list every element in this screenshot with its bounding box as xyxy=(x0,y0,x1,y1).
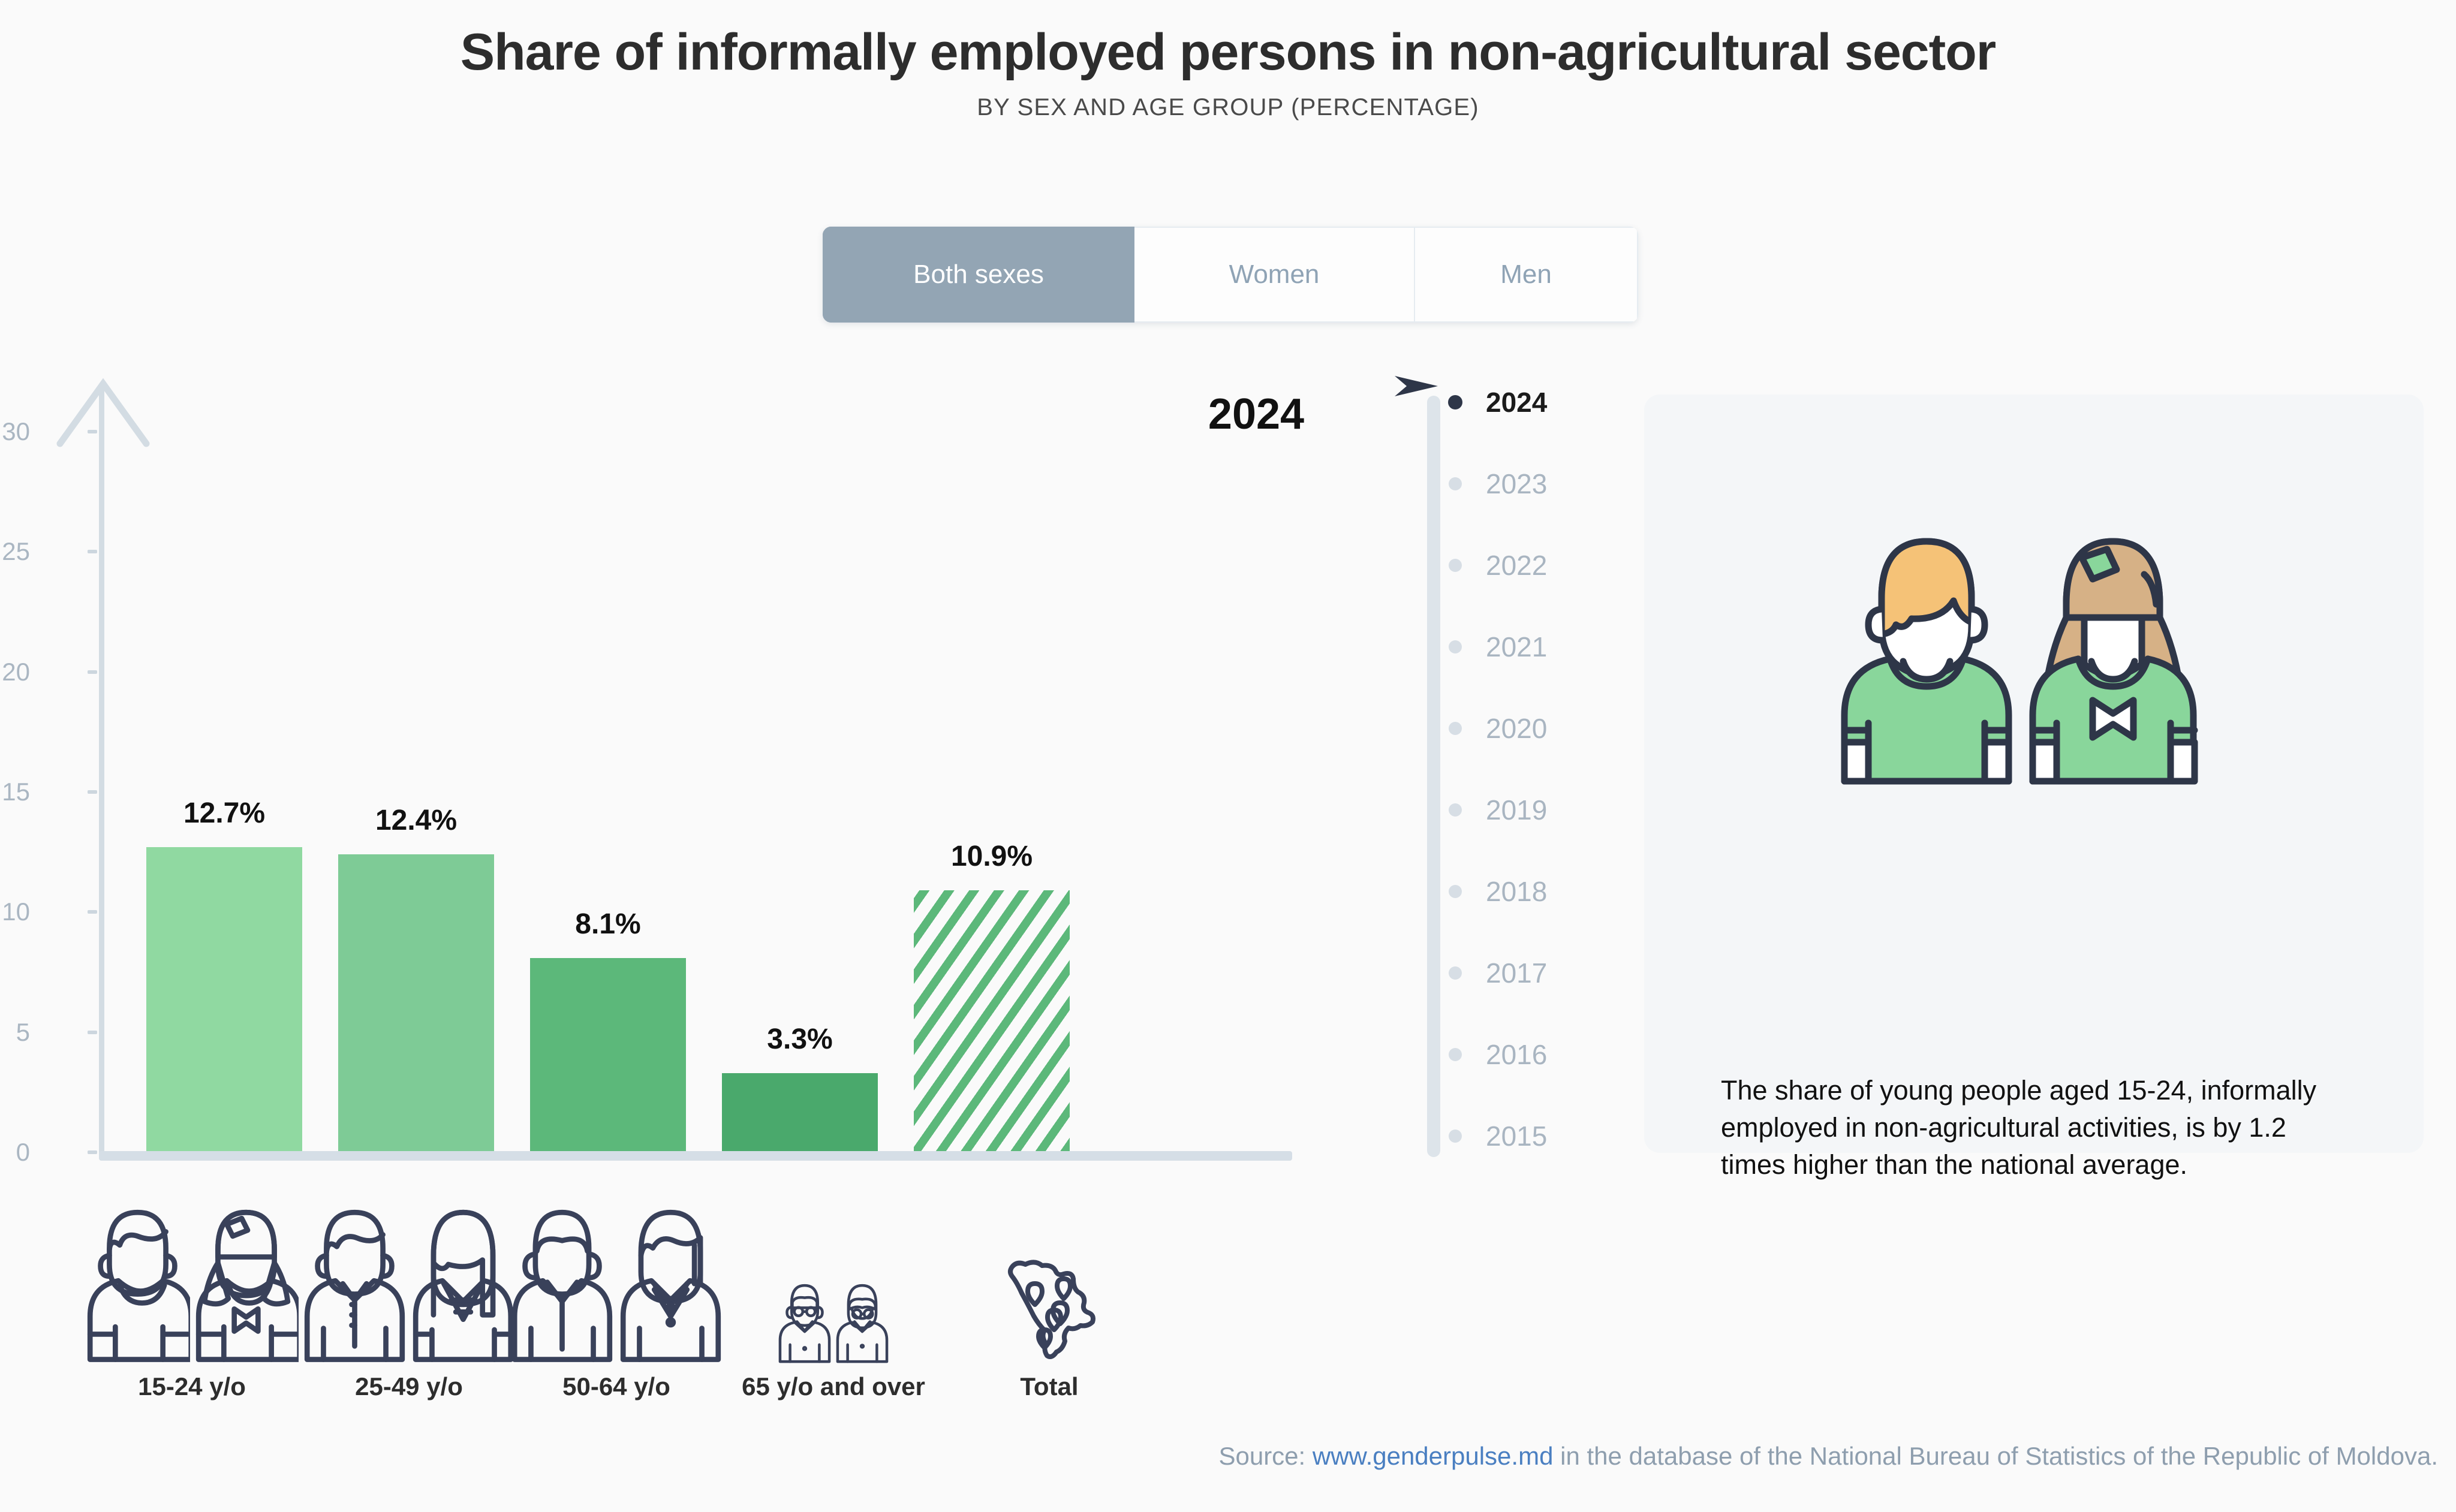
mature-couple-icon xyxy=(502,1190,730,1364)
source-link[interactable]: www.genderpulse.md xyxy=(1313,1442,1554,1470)
y-axis-tick-label: 5 xyxy=(0,1018,30,1047)
boy-and-girl-avatars-icon xyxy=(1824,508,2244,790)
category-item: Total xyxy=(959,1190,1139,1401)
timeline-dot xyxy=(1449,640,1462,653)
bar-fill xyxy=(914,890,1070,1152)
bar-fill xyxy=(146,847,302,1152)
category-item: 50-64 y/o xyxy=(502,1190,730,1401)
bar[interactable]: 12.7% xyxy=(146,847,302,1152)
elderly-couple-icon xyxy=(708,1190,959,1364)
timeline-year-2023[interactable]: 2023 xyxy=(1397,467,1649,501)
tab-women[interactable]: Women xyxy=(1134,227,1415,323)
timeline-selected-arrow-icon xyxy=(1391,372,1443,400)
bar-fill xyxy=(338,854,494,1152)
y-axis-tick-label: 10 xyxy=(0,897,30,926)
bar[interactable]: 8.1% xyxy=(530,958,686,1153)
y-axis-tick-mark xyxy=(88,910,97,914)
bar-value-label: 12.4% xyxy=(375,804,457,837)
source-footer: Source: www.genderpulse.md in the databa… xyxy=(0,1442,2456,1471)
page-subtitle: BY SEX AND AGE GROUP (PERCENTAGE) xyxy=(0,94,2456,121)
person-glyph xyxy=(302,1196,407,1364)
timeline-year-label: 2023 xyxy=(1486,468,1547,500)
timeline-dot xyxy=(1449,803,1462,817)
bars-container: 12.7%12.4%8.1%3.3%10.9% xyxy=(104,384,1298,1152)
bar[interactable]: 12.4% xyxy=(338,854,494,1152)
bar-chart: 051015202530 12.7%12.4%8.1%3.3%10.9% xyxy=(0,384,1307,1157)
timeline-year-2015[interactable]: 2015 xyxy=(1397,1119,1649,1153)
category-label: 25-49 y/o xyxy=(295,1372,523,1401)
category-item: 25-49 y/o xyxy=(295,1190,523,1401)
timeline-dot xyxy=(1449,722,1462,735)
person-glyph xyxy=(778,1277,832,1364)
info-panel: The share of young people aged 15-24, in… xyxy=(1644,394,2424,1153)
bar-fill xyxy=(722,1073,878,1152)
y-axis-tick-label: 30 xyxy=(0,417,30,446)
info-panel-note: The share of young people aged 15-24, in… xyxy=(1721,1072,2320,1183)
source-prefix: Source: xyxy=(1218,1442,1312,1470)
timeline-year-2020[interactable]: 2020 xyxy=(1397,712,1649,745)
person-glyph xyxy=(510,1196,615,1364)
bar-value-label: 8.1% xyxy=(575,908,640,941)
y-axis-tick-label: 0 xyxy=(0,1138,30,1167)
timeline-year-2016[interactable]: 2016 xyxy=(1397,1038,1649,1071)
bar[interactable]: 3.3% xyxy=(722,1073,878,1152)
category-label: Total xyxy=(959,1372,1139,1401)
y-axis-tick-mark xyxy=(88,1150,97,1154)
timeline-year-2022[interactable]: 2022 xyxy=(1397,549,1649,582)
tab-both-sexes[interactable]: Both sexes xyxy=(823,227,1134,323)
y-axis-tick-label: 25 xyxy=(0,537,30,566)
timeline-year-2018[interactable]: 2018 xyxy=(1397,875,1649,908)
y-axis-line xyxy=(99,384,104,1157)
timeline-dot xyxy=(1449,1048,1462,1061)
bar-value-label: 10.9% xyxy=(951,840,1033,873)
category-axis: 15-24 y/o25-49 y/o50-64 y/o65 y/o and ov… xyxy=(0,1190,1307,1400)
bar-fill xyxy=(530,958,686,1153)
timeline-year-label: 2016 xyxy=(1486,1038,1547,1071)
timeline-dot xyxy=(1449,1130,1462,1143)
person-glyph xyxy=(411,1196,516,1364)
timeline-dot xyxy=(1448,395,1462,409)
year-timeline[interactable]: 2024202320222021202020192018201720162015 xyxy=(1397,387,1649,1166)
timeline-dot xyxy=(1449,477,1462,490)
adult-couple-icon xyxy=(295,1190,523,1364)
timeline-year-2021[interactable]: 2021 xyxy=(1397,630,1649,664)
y-axis-tick-label: 20 xyxy=(0,658,30,686)
timeline-year-label: 2021 xyxy=(1486,631,1547,663)
category-item: 15-24 y/o xyxy=(78,1190,306,1401)
y-axis-tick-mark xyxy=(88,550,97,553)
bar[interactable]: 10.9% xyxy=(914,890,1070,1152)
category-label: 50-64 y/o xyxy=(502,1372,730,1401)
y-axis-tick-mark xyxy=(88,670,97,674)
timeline-year-2019[interactable]: 2019 xyxy=(1397,793,1649,827)
y-axis-tick-mark xyxy=(88,1031,97,1034)
source-suffix: in the database of the National Bureau o… xyxy=(1553,1442,2438,1470)
timeline-dot xyxy=(1449,966,1462,980)
timeline-year-label: 2017 xyxy=(1486,957,1547,989)
y-axis-labels: 051015202530 xyxy=(0,384,99,1157)
y-axis-tick-label: 15 xyxy=(0,778,30,806)
moldova-map-icon xyxy=(1001,1250,1097,1364)
timeline-year-label: 2020 xyxy=(1486,712,1547,745)
category-label: 15-24 y/o xyxy=(78,1372,306,1401)
x-axis-baseline xyxy=(99,1151,1292,1161)
person-glyph xyxy=(85,1196,190,1364)
young-couple-icon xyxy=(78,1190,306,1364)
timeline-year-2024[interactable]: 2024 xyxy=(1397,385,1649,419)
timeline-dot xyxy=(1449,885,1462,898)
page-title: Share of informally employed persons in … xyxy=(0,24,2456,81)
category-item: 65 y/o and over xyxy=(708,1190,959,1401)
timeline-year-label: 2022 xyxy=(1486,549,1547,582)
timeline-year-2017[interactable]: 2017 xyxy=(1397,956,1649,990)
person-glyph xyxy=(194,1196,299,1364)
bar-value-label: 12.7% xyxy=(183,797,265,830)
person-glyph xyxy=(835,1277,889,1364)
timeline-year-label: 2015 xyxy=(1486,1120,1547,1152)
sex-tab-selector[interactable]: Both sexes Women Men xyxy=(823,227,1638,323)
y-axis-tick-mark xyxy=(88,430,97,433)
moldova-map-icon xyxy=(959,1190,1139,1364)
bar-value-label: 3.3% xyxy=(767,1023,832,1056)
timeline-year-label: 2024 xyxy=(1486,386,1547,418)
tab-men[interactable]: Men xyxy=(1415,227,1638,323)
timeline-year-label: 2018 xyxy=(1486,875,1547,908)
timeline-year-label: 2019 xyxy=(1486,794,1547,826)
page-header: Share of informally employed persons in … xyxy=(0,0,2456,121)
category-label: 65 y/o and over xyxy=(708,1372,959,1401)
y-axis-tick-mark xyxy=(88,790,97,794)
timeline-dot xyxy=(1449,559,1462,572)
